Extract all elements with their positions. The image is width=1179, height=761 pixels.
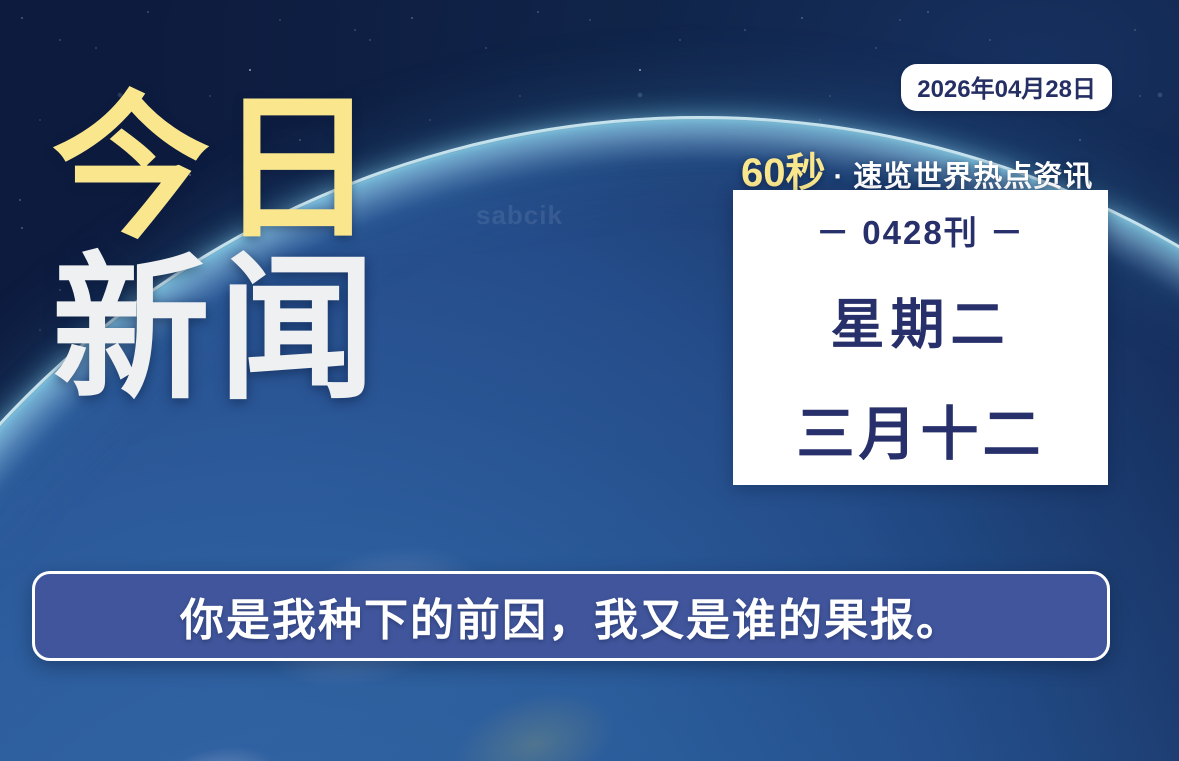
issue-number: － 0428刊 － — [816, 206, 1025, 254]
lunar-date-label: 三月十二 — [796, 387, 1044, 471]
headline-line-today: 今日 — [52, 92, 384, 247]
headline-line-news: 新闻 — [52, 253, 384, 408]
weekday-label: 星期二 — [831, 280, 1011, 359]
poster-headline: 今日 新闻 — [52, 92, 384, 408]
news-poster: sabcik 今日 新闻 2026年04月28日 60秒 · 速览世界热点资讯 … — [0, 0, 1179, 761]
date-badge: 2026年04月28日 — [901, 64, 1112, 111]
tagline-description: · 速览世界热点资讯 — [834, 153, 1094, 195]
quote-banner: 你是我种下的前因，我又是谁的果报。 — [32, 571, 1110, 661]
watermark-text: sabcik — [476, 200, 563, 231]
quote-text: 你是我种下的前因，我又是谁的果报。 — [180, 584, 962, 648]
issue-info-card: － 0428刊 － 星期二 三月十二 — [733, 190, 1108, 485]
